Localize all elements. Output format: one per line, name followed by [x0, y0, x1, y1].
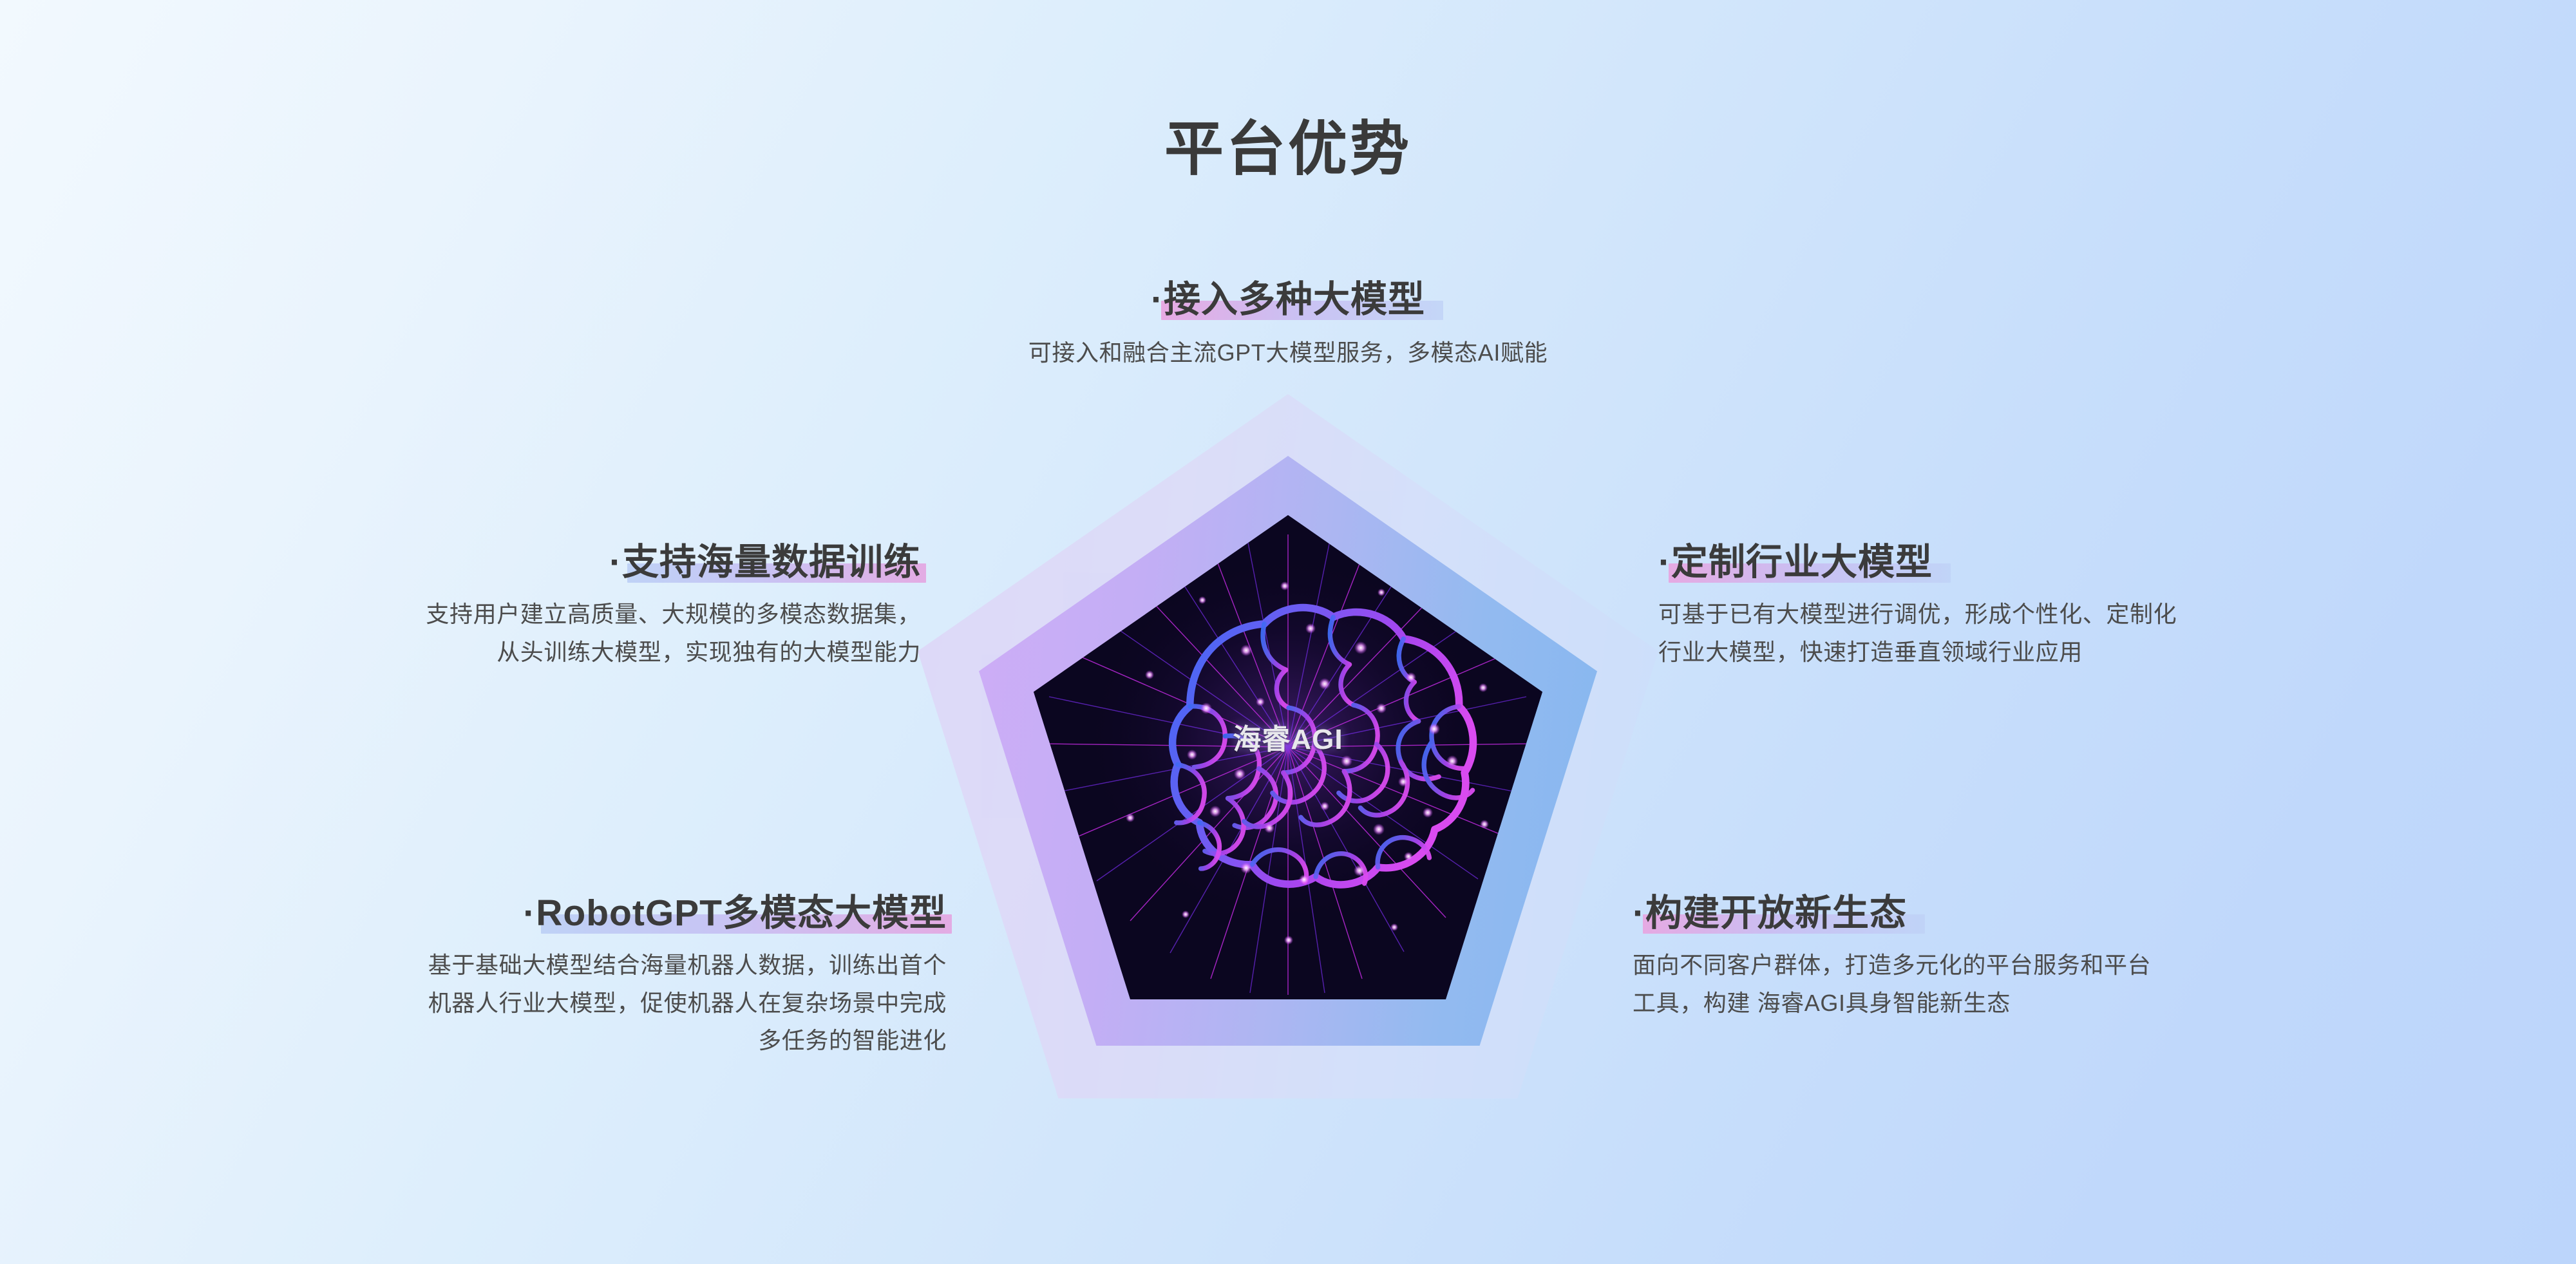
- feature-heading-left-mid: ·支持海量数据训练: [609, 541, 921, 584]
- feature-desc-right-bottom: 面向不同客户群体，打造多元化的平台服务和平台 工具，构建 海睿AGI具身智能新生…: [1633, 947, 2457, 1022]
- feature-block-right-mid: ·定制行业大模型 可基于已有大模型进行调优，形成个性化、定制化 行业大模型，快速…: [1658, 541, 2463, 671]
- feature-desc-top: 可接入和融合主流GPT大模型服务，多模态AI赋能: [708, 334, 1868, 372]
- center-brand-label: 海睿AGI: [1233, 716, 1343, 757]
- desc-line: 从头训练大模型，实现独有的大模型能力: [129, 634, 921, 671]
- feature-block-left-mid: ·支持海量数据训练 支持用户建立高质量、大规模的多模态数据集， 从头训练大模型，…: [129, 541, 921, 671]
- platform-advantages-infographic: 平台优势: [0, 0, 2576, 1264]
- desc-line: 行业大模型，快速打造垂直领域行业应用: [1658, 634, 2463, 671]
- feature-heading-top: ·接入多种大模型: [1151, 278, 1425, 321]
- feature-block-left-bottom: ·RobotGPT多模态大模型 基于基础大模型结合海量机器人数据，训练出首个 机…: [129, 892, 947, 1059]
- central-pentagon-graphic: 海睿AGI: [918, 386, 1658, 1104]
- feature-heading-left-bottom: ·RobotGPT多模态大模型: [523, 892, 947, 935]
- feature-desc-left-mid: 支持用户建立高质量、大规模的多模态数据集， 从头训练大模型，实现独有的大模型能力: [129, 596, 921, 671]
- feature-block-top: ·接入多种大模型 可接入和融合主流GPT大模型服务，多模态AI赋能: [708, 278, 1868, 372]
- desc-line: 面向不同客户群体，打造多元化的平台服务和平台: [1633, 947, 2457, 984]
- desc-line: 多任务的智能进化: [129, 1022, 947, 1059]
- feature-heading-right-bottom: ·构建开放新生态: [1633, 892, 1907, 935]
- desc-line: 基于基础大模型结合海量机器人数据，训练出首个: [129, 947, 947, 984]
- desc-line: 支持用户建立高质量、大规模的多模态数据集，: [129, 596, 921, 633]
- desc-line: 可接入和融合主流GPT大模型服务，多模态AI赋能: [708, 334, 1868, 372]
- feature-heading-right-mid: ·定制行业大模型: [1658, 541, 1933, 584]
- desc-line: 机器人行业大模型，促使机器人在复杂场景中完成: [129, 985, 947, 1022]
- page-title: 平台优势: [0, 120, 2576, 179]
- feature-desc-right-mid: 可基于已有大模型进行调优，形成个性化、定制化 行业大模型，快速打造垂直领域行业应…: [1658, 596, 2463, 671]
- feature-desc-left-bottom: 基于基础大模型结合海量机器人数据，训练出首个 机器人行业大模型，促使机器人在复杂…: [129, 947, 947, 1059]
- desc-line: 工具，构建 海睿AGI具身智能新生态: [1633, 985, 2457, 1022]
- feature-block-right-bottom: ·构建开放新生态 面向不同客户群体，打造多元化的平台服务和平台 工具，构建 海睿…: [1633, 892, 2457, 1022]
- desc-line: 可基于已有大模型进行调优，形成个性化、定制化: [1658, 596, 2463, 633]
